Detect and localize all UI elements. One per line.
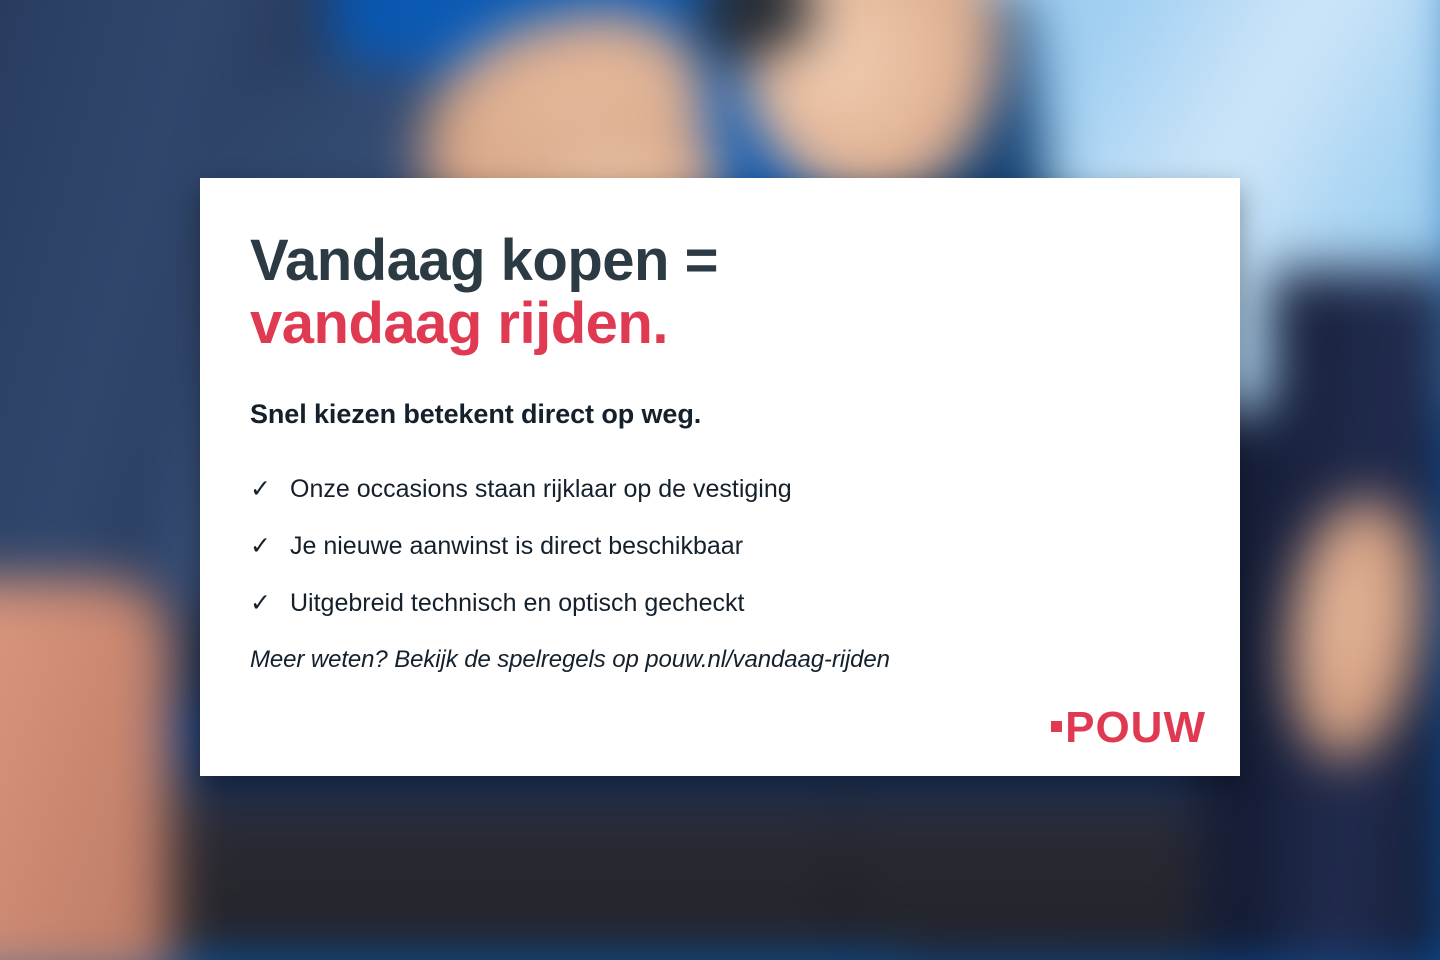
footnote-link-text: Meer weten? Bekijk de spelregels op pouw… <box>250 646 1180 674</box>
poster-stage: Vandaag kopen = vandaag rijden. Snel kie… <box>0 0 1440 960</box>
logo-dot-icon <box>1051 721 1062 732</box>
check-icon: ✓ <box>250 588 290 618</box>
list-item: ✓ Onze occasions staan rijklaar op de ve… <box>250 474 1180 504</box>
list-item: ✓ Je nieuwe aanwinst is direct beschikba… <box>250 531 1180 561</box>
list-item: ✓ Uitgebreid technisch en optisch gechec… <box>250 588 1180 618</box>
headline-line-2: vandaag rijden. <box>250 293 1180 356</box>
subheading: Snel kiezen betekent direct op weg. <box>250 399 1180 430</box>
person-left-hand-lower <box>0 580 170 960</box>
benefit-text: Uitgebreid technisch en optisch gecheckt <box>290 588 744 618</box>
check-icon: ✓ <box>250 474 290 504</box>
pouw-logo: POUW <box>1051 706 1206 750</box>
promo-card: Vandaag kopen = vandaag rijden. Snel kie… <box>200 178 1240 776</box>
benefit-text: Je nieuwe aanwinst is direct beschikbaar <box>290 531 743 561</box>
logo-wordmark: POUW <box>1065 706 1206 750</box>
benefits-list: ✓ Onze occasions staan rijklaar op de ve… <box>250 474 1180 618</box>
check-icon: ✓ <box>250 531 290 561</box>
page-title: Vandaag kopen = vandaag rijden. <box>250 230 1180 355</box>
headline-line-1: Vandaag kopen = <box>250 230 1180 293</box>
benefit-text: Onze occasions staan rijklaar op de vest… <box>290 474 792 504</box>
